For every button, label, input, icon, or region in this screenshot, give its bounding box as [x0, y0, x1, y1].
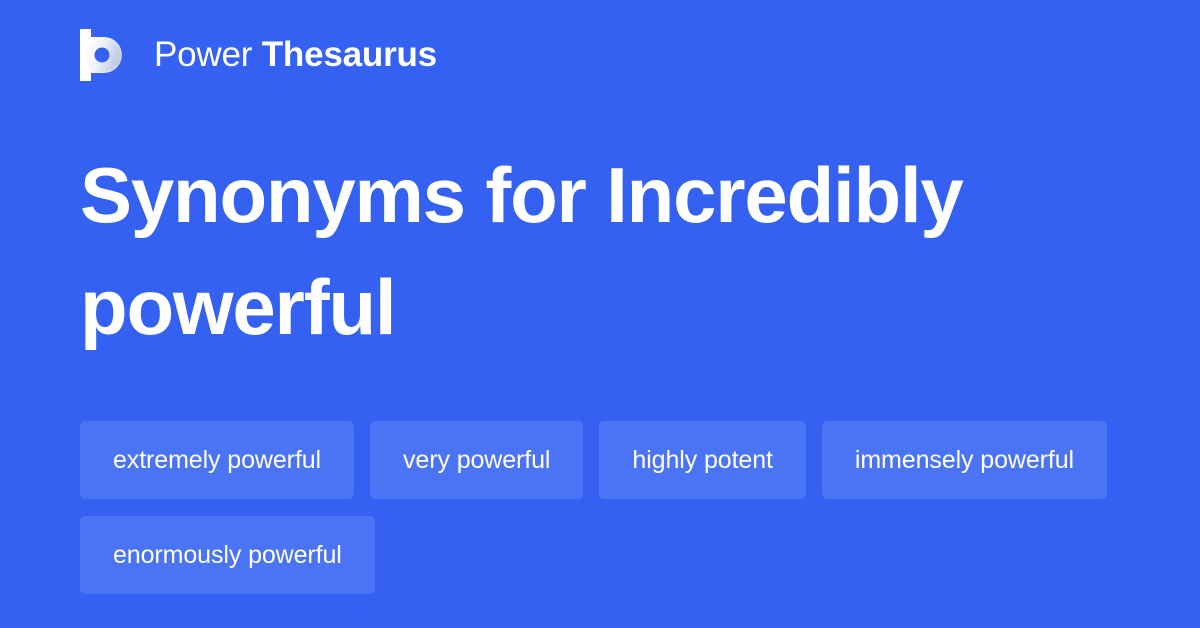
brand-name: Power Thesaurus [154, 29, 437, 81]
synonym-chip[interactable]: highly potent [599, 421, 805, 499]
synonyms-preview-card: Power Thesaurus Synonyms for Incredibly … [0, 0, 1200, 628]
synonym-chip[interactable]: immensely powerful [822, 421, 1107, 499]
synonym-chip-label: very powerful [403, 446, 550, 475]
synonym-chip-label: extremely powerful [113, 446, 321, 475]
synonym-chip-label: enormously powerful [113, 541, 342, 570]
brand-word-power: Power [154, 35, 252, 74]
synonym-chip-label: immensely powerful [855, 446, 1074, 475]
brand-header[interactable]: Power Thesaurus [80, 29, 437, 81]
synonym-chip[interactable]: enormously powerful [80, 516, 375, 594]
synonym-chip[interactable]: extremely powerful [80, 421, 354, 499]
synonym-chip-label: highly potent [632, 446, 772, 475]
brand-word-thesaurus: Thesaurus [262, 35, 437, 74]
power-thesaurus-logo-icon [80, 29, 126, 81]
synonym-chip[interactable]: very powerful [370, 421, 583, 499]
synonym-chip-list: extremely powerful very powerful highly … [80, 421, 1120, 594]
page-title: Synonyms for Incredibly powerful [80, 139, 1040, 363]
